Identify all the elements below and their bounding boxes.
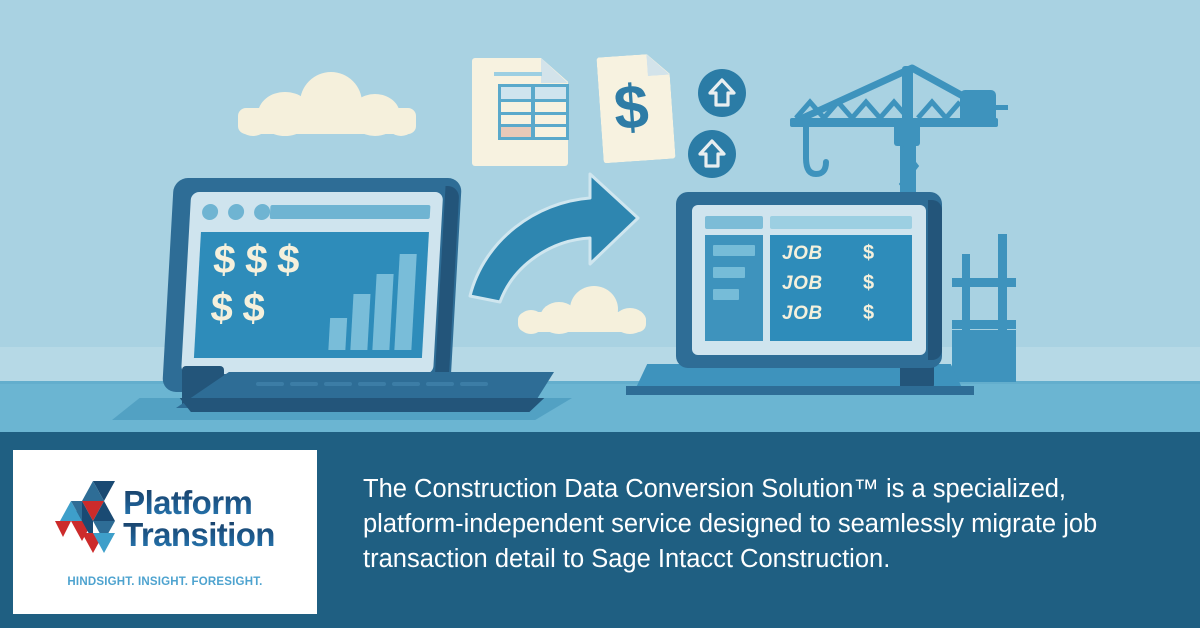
- app-sidebar-panel: [705, 235, 763, 341]
- keyboard-key: [324, 382, 352, 386]
- right-laptop-lid-edge: [928, 200, 942, 360]
- upload-arrow-badge-top: [698, 69, 746, 117]
- keyboard-key: [290, 382, 318, 386]
- legacy-dashboard-screen: $ $ $ $ $: [194, 232, 429, 358]
- job-row-label: JOB: [782, 273, 823, 295]
- job-transaction-list: JOB $ JOB $ JOB $: [770, 235, 912, 341]
- right-laptop-base-lip: [626, 386, 974, 395]
- document-title-line: [494, 72, 542, 76]
- dollar-sign: $: [242, 288, 266, 328]
- right-laptop-screen-bezel: JOB $ JOB $ JOB $: [692, 205, 926, 355]
- banner-headline: The Construction Data Conversion Solutio…: [363, 472, 1173, 578]
- migration-arrow: [466, 168, 642, 310]
- invoice-document: $: [596, 53, 675, 164]
- platform-transition-mark-icon: [55, 479, 117, 560]
- left-laptop-screen-bezel: $ $ $ $ $: [181, 192, 443, 374]
- sidebar-row: [713, 245, 755, 256]
- job-row-amount: $: [863, 242, 874, 265]
- logo-tagline: HINDSIGHT. INSIGHT. FORESIGHT.: [67, 576, 262, 588]
- chart-bar: [372, 274, 393, 350]
- legacy-bar-chart: [328, 246, 414, 350]
- cloud-large-left: [238, 72, 416, 134]
- job-row-amount: $: [863, 302, 874, 325]
- sidebar-row: [713, 267, 745, 278]
- sage-intacct-construction-laptop-lid: JOB $ JOB $ JOB $: [676, 192, 942, 368]
- browser-address-bar: [270, 205, 431, 219]
- app-toolbar-right: [770, 216, 912, 229]
- keyboard-key: [426, 382, 454, 386]
- dollar-sign: $: [244, 240, 268, 280]
- keyboard-key: [392, 382, 420, 386]
- logo-wordmark-line2: Transition: [123, 519, 275, 551]
- upload-arrow-badge-bottom: [688, 130, 736, 178]
- left-laptop-base-front: [176, 398, 548, 412]
- browser-dot-2: [228, 204, 245, 220]
- chart-bar: [394, 254, 416, 350]
- dollar-sign: $: [210, 288, 234, 328]
- app-toolbar-left: [705, 216, 763, 229]
- legacy-accounting-laptop-lid: $ $ $ $ $: [162, 178, 462, 392]
- job-row-label: JOB: [782, 243, 823, 265]
- job-row-label: JOB: [782, 303, 823, 325]
- chart-bar: [328, 318, 347, 350]
- sidebar-row: [713, 289, 739, 300]
- browser-dot-3: [254, 204, 271, 220]
- browser-dot-1: [202, 204, 219, 220]
- job-row-amount: $: [863, 272, 874, 295]
- keyboard-key: [460, 382, 488, 386]
- platform-transition-logo: Platform Transition HINDSIGHT. INSIGHT. …: [13, 450, 317, 614]
- dollar-sign: $: [276, 240, 300, 280]
- dollar-sign: $: [212, 240, 236, 280]
- keyboard-key: [358, 382, 386, 386]
- construction-scaffold: [952, 234, 1042, 382]
- logo-wordmark-line1: Platform: [123, 487, 275, 519]
- chart-bar: [350, 294, 370, 350]
- keyboard-key: [256, 382, 284, 386]
- marketing-banner: $ $ $ $ $: [0, 0, 1200, 628]
- spreadsheet-document: [472, 58, 568, 166]
- dollar-sign: $: [612, 76, 651, 140]
